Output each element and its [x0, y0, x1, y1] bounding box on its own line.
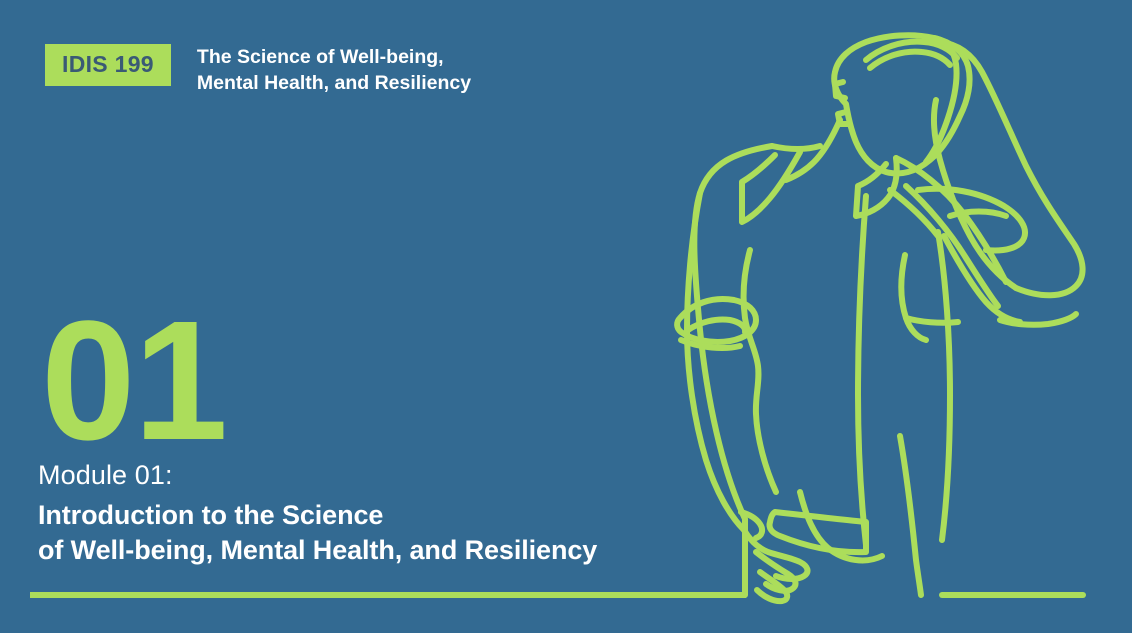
shoulder-crease [901, 255, 926, 340]
course-code-badge: IDIS 199 [45, 44, 171, 86]
slide-header: IDIS 199 The Science of Well-being, Ment… [45, 44, 471, 97]
course-title: The Science of Well-being, Mental Health… [197, 44, 471, 97]
course-title-line-1: The Science of Well-being, [197, 45, 471, 71]
module-title-line-2: of Well-being, Mental Health, and Resili… [38, 533, 597, 569]
raised-arm-outer [940, 42, 1083, 295]
shoulder-crease-2 [906, 318, 958, 323]
neck-left [786, 120, 840, 180]
title-slide: IDIS 199 The Science of Well-being, Ment… [0, 0, 1132, 633]
sleeve-drape-3 [950, 212, 1006, 217]
chest-fold [890, 190, 938, 236]
arm-left-inner [744, 250, 776, 492]
hand-behind-head [926, 38, 957, 162]
course-title-line-2: Mental Health, and Resiliency [197, 71, 471, 97]
raised-arm-inner [934, 100, 1016, 288]
finger-3 [757, 572, 787, 601]
sleeve-drape-2 [918, 189, 1025, 251]
module-title-line-1: Introduction to the Science [38, 498, 597, 534]
module-number-display: 01 [41, 296, 226, 466]
thumb [741, 512, 762, 538]
sleeve-drape-1 [944, 236, 1020, 322]
figure-left-outline [694, 146, 772, 595]
waist-left [800, 492, 882, 560]
sleeve-cuff-fold [688, 319, 745, 332]
figure-right-leg [900, 436, 921, 595]
shoulder-raised [896, 158, 1006, 282]
hair-line-2 [870, 52, 950, 68]
arm-left-outer [687, 193, 744, 530]
hair-line [866, 42, 957, 60]
module-caption-block: Module 01: Introduction to the Science o… [38, 458, 597, 569]
module-eyebrow-label: Module 01: [38, 458, 597, 493]
ear-notch [835, 82, 845, 98]
finger-2 [756, 552, 795, 591]
raised-sleeve-underarm [906, 186, 998, 306]
module-title: Introduction to the Science of Well-bein… [38, 498, 597, 570]
sleeve-cuff [677, 299, 756, 342]
collar-left [742, 152, 800, 222]
hand-fingers [744, 530, 807, 579]
collar-right [856, 158, 897, 216]
head-outline [834, 35, 969, 173]
accent-baseline-rule [30, 592, 746, 598]
waistline [769, 512, 866, 552]
shirt-placket [858, 196, 866, 545]
jaw-notch [838, 112, 848, 124]
torso-right-seam [938, 232, 950, 540]
elbow-detail [1000, 314, 1076, 325]
chest-crease-left [772, 146, 820, 149]
sleeve-cuff-edge [681, 340, 740, 348]
